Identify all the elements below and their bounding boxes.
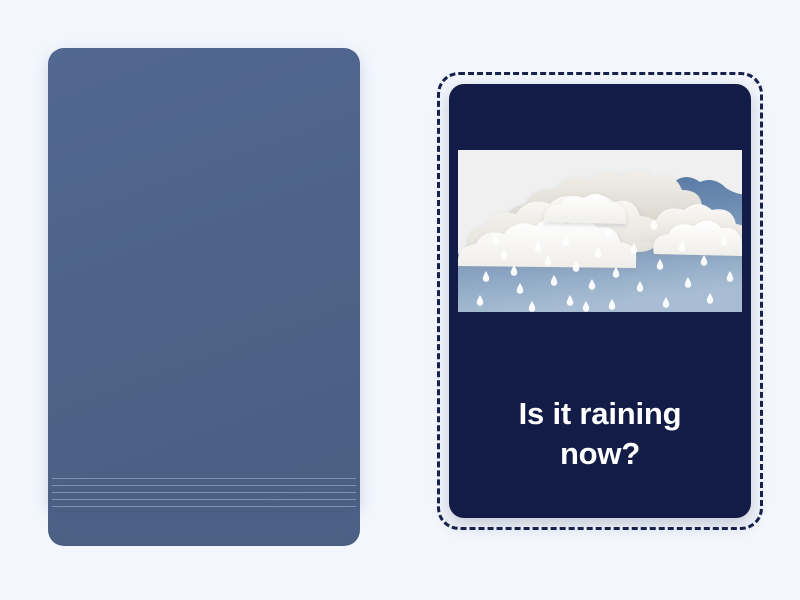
question-card[interactable]: Is it raining now? [449, 84, 751, 518]
card-prompt-line-1: Is it raining [463, 394, 737, 434]
deck-top-card[interactable] [48, 48, 360, 510]
card-deck[interactable] [48, 48, 360, 546]
app-stage: Is it raining now? [0, 0, 800, 600]
card-prompt: Is it raining now? [463, 394, 737, 474]
rain-illustration-svg [458, 150, 742, 312]
card-prompt-line-2: now? [463, 434, 737, 474]
active-card-container[interactable]: Is it raining now? [437, 72, 763, 530]
rain-illustration [458, 150, 742, 312]
